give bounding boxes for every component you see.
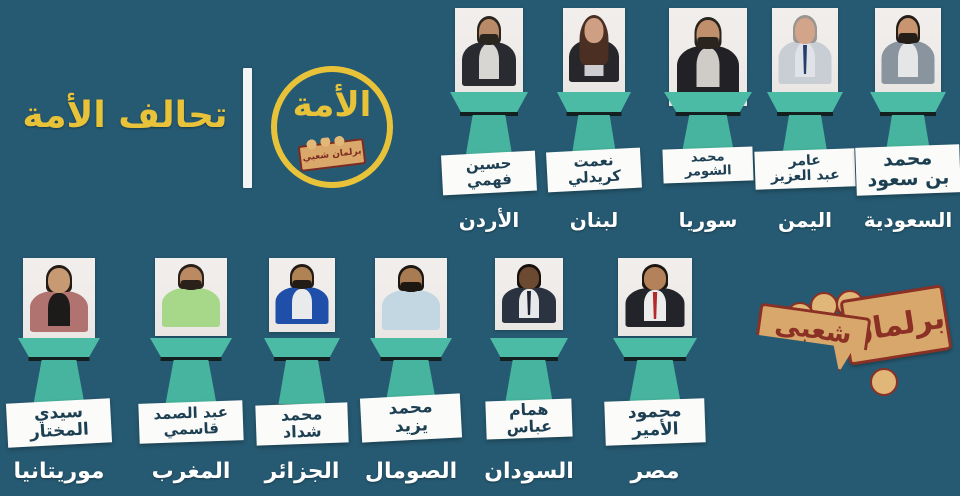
nameplate-line-2: شداد xyxy=(283,423,322,441)
figure-beard xyxy=(899,33,917,44)
nameplate-line-1: عامر xyxy=(788,154,821,170)
nameplate-line-1: محمد xyxy=(883,149,933,171)
nameplate-line-2: بن سعود xyxy=(867,169,950,192)
portrait-figure xyxy=(155,258,227,336)
figure-shirt xyxy=(585,42,604,76)
lectern-edge xyxy=(880,112,936,116)
figure-body xyxy=(162,288,220,327)
figure-body xyxy=(276,287,329,324)
lectern-base xyxy=(670,160,746,164)
member-photo xyxy=(269,258,335,332)
lectern-column xyxy=(571,115,617,160)
member-nameplate: محمديزيد xyxy=(360,393,462,442)
nameplate-line-1: همام xyxy=(509,402,549,420)
member-podium: نعمتكريدليلبنان xyxy=(0,0,960,496)
portrait-figure xyxy=(375,258,447,338)
emblem-word: الأمة xyxy=(277,88,387,122)
logo-word-popular: شعبي xyxy=(773,310,854,350)
member-podium: محمودالأميرمصر xyxy=(0,0,960,496)
lectern-top xyxy=(18,338,100,358)
page-title: تحالف الأمة xyxy=(20,96,230,136)
figure-tie xyxy=(649,292,661,319)
member-lectern xyxy=(664,92,752,160)
nameplate-line-2: قاسمي xyxy=(163,421,219,439)
portrait-figure xyxy=(563,8,625,92)
member-podium: حسينفهميالأردن xyxy=(0,0,960,496)
lectern-column xyxy=(629,360,681,404)
nameplate-line-1: عبد الصمد xyxy=(153,405,228,423)
figure-head xyxy=(795,18,815,44)
member-photo xyxy=(23,258,95,340)
member-country-label: السودان xyxy=(484,459,574,484)
member-lectern xyxy=(150,338,232,404)
member-lectern xyxy=(870,92,946,160)
title-divider xyxy=(243,68,252,188)
lectern-base xyxy=(24,404,95,408)
member-nameplate: عبد الصمدقاسمي xyxy=(138,400,243,444)
figure-hair xyxy=(477,16,501,44)
nameplate-line-1: محمد xyxy=(691,151,725,166)
member-lectern xyxy=(264,338,340,404)
lectern-base xyxy=(619,404,691,408)
lectern-top xyxy=(870,92,946,112)
member-photo xyxy=(155,258,227,336)
portrait-figure xyxy=(875,8,941,94)
portrait-figure xyxy=(618,258,692,336)
lectern-edge xyxy=(381,357,442,361)
nameplate-line-2: فهمي xyxy=(467,172,513,190)
alliance-emblem: الأمة برلمان شعبي xyxy=(271,66,393,188)
lectern-base xyxy=(156,404,227,408)
member-photo xyxy=(495,258,563,330)
figure-shirt xyxy=(292,289,312,319)
lectern-top xyxy=(264,338,340,358)
lectern-column xyxy=(166,360,217,404)
lectern-edge xyxy=(161,357,222,361)
member-country-label: اليمن xyxy=(778,208,832,232)
member-nameplate: عامرعبد العزيز xyxy=(754,148,855,189)
portrait-figure xyxy=(269,258,335,332)
nameplate-line-2: كريدلي xyxy=(567,169,621,188)
lectern-column xyxy=(782,115,829,160)
member-photo xyxy=(875,8,941,94)
member-podium: همامعباسالسودان xyxy=(0,0,960,496)
logo-dot-icon xyxy=(870,368,898,396)
lectern-top xyxy=(664,92,752,112)
portrait-figure xyxy=(23,258,95,340)
figure-head xyxy=(585,18,604,43)
member-nameplate: محمدالشومر xyxy=(662,146,753,183)
figure-shirt xyxy=(644,290,666,321)
member-podium: محمدالشومرسوريا xyxy=(0,0,960,496)
figure-body xyxy=(677,46,739,95)
lectern-column xyxy=(885,115,932,160)
lectern-edge xyxy=(460,112,518,116)
member-country-label: مصر xyxy=(631,459,680,484)
member-photo xyxy=(455,8,523,96)
figure-hair xyxy=(580,15,609,65)
lectern-base xyxy=(876,160,941,164)
member-photo xyxy=(772,8,838,94)
member-podium: سيديالمختارموريتانيا xyxy=(0,0,960,496)
figure-head xyxy=(697,20,720,49)
figure-body xyxy=(569,40,619,82)
figure-hair xyxy=(398,265,424,291)
lectern-top xyxy=(490,338,568,358)
member-photo xyxy=(563,8,625,92)
nameplate-line-2: الأمير xyxy=(632,421,679,440)
nameplate-line-1: محمد xyxy=(281,406,323,424)
member-nameplate: محمدشداد xyxy=(255,402,348,445)
lectern-column xyxy=(465,115,513,160)
member-lectern xyxy=(18,338,100,404)
figure-head xyxy=(292,267,312,289)
member-nameplate: حسينفهمي xyxy=(441,151,537,196)
member-nameplate: سيديالمختار xyxy=(6,398,112,447)
figure-shirt xyxy=(400,292,422,324)
figure-shirt xyxy=(519,289,539,318)
member-lectern xyxy=(490,338,568,404)
member-lectern xyxy=(557,92,631,160)
lectern-column xyxy=(386,360,437,404)
lectern-base xyxy=(496,404,563,408)
lectern-edge xyxy=(500,357,558,361)
figure-beard xyxy=(401,282,421,292)
nameplate-line-1: سيدي xyxy=(34,404,84,424)
figure-hair xyxy=(517,264,541,288)
lectern-base xyxy=(456,160,523,164)
member-lectern xyxy=(613,338,697,404)
member-lectern xyxy=(767,92,843,160)
member-country-label: الجزائر xyxy=(265,459,340,484)
lectern-top xyxy=(767,92,843,112)
emblem-badge-label: برلمان شعبي xyxy=(302,146,362,163)
lectern-column xyxy=(505,360,553,404)
figure-head xyxy=(644,267,666,290)
figure-hair xyxy=(896,15,920,43)
member-photo xyxy=(669,8,747,106)
member-podium: عبد الصمدقاسميالمغرب xyxy=(0,0,960,496)
figure-hair xyxy=(642,264,668,289)
nameplate-line-2: الشومر xyxy=(685,164,732,179)
figure-shirt xyxy=(898,43,918,77)
figure-shirt xyxy=(479,44,499,79)
nameplate-line-2: عبد العزيز xyxy=(771,168,840,185)
figure-body xyxy=(462,42,516,86)
member-podium: عامرعبد العزيزاليمن xyxy=(0,0,960,496)
lectern-edge xyxy=(676,112,741,116)
member-podium: محمدبن سعودالسعودية xyxy=(0,0,960,496)
lectern-top xyxy=(557,92,631,112)
lectern-top xyxy=(150,338,232,358)
figure-body xyxy=(626,288,685,327)
member-country-label: المغرب xyxy=(152,459,231,484)
figure-beard xyxy=(698,37,719,49)
figure-shirt xyxy=(697,48,720,87)
portrait-figure xyxy=(455,8,523,96)
member-country-label: الصومال xyxy=(365,459,457,484)
member-lectern xyxy=(370,338,452,404)
nameplate-line-1: نعمت xyxy=(573,153,614,171)
figure-body xyxy=(382,290,440,330)
figure-hair xyxy=(793,15,817,43)
nameplate-line-2: يزيد xyxy=(394,417,428,437)
lectern-base xyxy=(562,160,626,164)
lectern-base xyxy=(773,160,838,164)
figure-beard xyxy=(480,34,498,45)
member-nameplate: نعمتكريدلي xyxy=(546,148,642,193)
nameplate-line-1: محمود xyxy=(628,403,682,423)
figure-head xyxy=(519,267,539,289)
figure-shirt xyxy=(795,43,815,77)
emblem-badge: برلمان شعبي xyxy=(298,138,367,172)
nameplate-line-1: محمد xyxy=(388,399,433,419)
member-photo xyxy=(618,258,692,336)
lectern-top xyxy=(613,338,697,358)
member-nameplate: محمودالأمير xyxy=(604,398,705,445)
figure-hair xyxy=(46,265,72,292)
portrait-figure xyxy=(669,8,747,106)
lectern-base xyxy=(270,404,335,408)
lectern-column xyxy=(34,360,85,404)
lectern-edge xyxy=(624,357,686,361)
member-country-label: لبنان xyxy=(570,208,618,232)
figure-head xyxy=(48,268,70,293)
member-podium: محمدشدادالجزائر xyxy=(0,0,960,496)
portrait-figure xyxy=(495,258,563,330)
lectern-top xyxy=(450,92,528,112)
member-nameplate: همامعباس xyxy=(485,399,572,440)
lectern-base xyxy=(376,404,447,408)
member-country-label: موريتانيا xyxy=(13,459,104,484)
figure-body xyxy=(779,41,832,84)
figure-beard xyxy=(181,280,201,290)
lectern-column xyxy=(681,115,736,160)
figure-head xyxy=(898,18,918,44)
nameplate-line-2: عباس xyxy=(506,418,552,436)
figure-hair xyxy=(290,264,314,288)
lectern-edge xyxy=(777,112,833,116)
figure-tie xyxy=(800,45,811,74)
member-nameplate: محمدبن سعود xyxy=(855,144,960,196)
member-lectern xyxy=(450,92,528,160)
figure-hair xyxy=(695,17,722,48)
lectern-top xyxy=(370,338,452,358)
figure-head xyxy=(400,268,422,292)
figure-body xyxy=(882,41,935,84)
poster-canvas: تحالف الأمة الأمة برلمان شعبي حسينفهميال… xyxy=(0,0,960,496)
nameplate-line-2: المختار xyxy=(30,421,90,442)
figure-shirt xyxy=(180,290,202,321)
portrait-figure xyxy=(772,8,838,94)
parliament-logo: برلمان شعبي xyxy=(752,284,948,388)
figure-body xyxy=(30,291,88,332)
figure-beard xyxy=(293,280,311,289)
nameplate-line-1: حسين xyxy=(465,156,511,174)
figure-head xyxy=(479,19,499,45)
lectern-column xyxy=(279,360,326,404)
lectern-edge xyxy=(274,357,330,361)
lectern-edge xyxy=(29,357,90,361)
figure-shirt xyxy=(48,293,70,326)
figure-body xyxy=(502,287,556,323)
member-country-label: الأردن xyxy=(459,208,520,232)
member-country-label: سوريا xyxy=(679,208,738,232)
lectern-edge xyxy=(567,112,622,116)
figure-head xyxy=(180,267,202,290)
member-podium: محمديزيدالصومال xyxy=(0,0,960,496)
figure-tie xyxy=(524,291,535,315)
member-photo xyxy=(375,258,447,338)
figure-hair xyxy=(178,264,204,289)
member-country-label: السعودية xyxy=(864,208,952,232)
